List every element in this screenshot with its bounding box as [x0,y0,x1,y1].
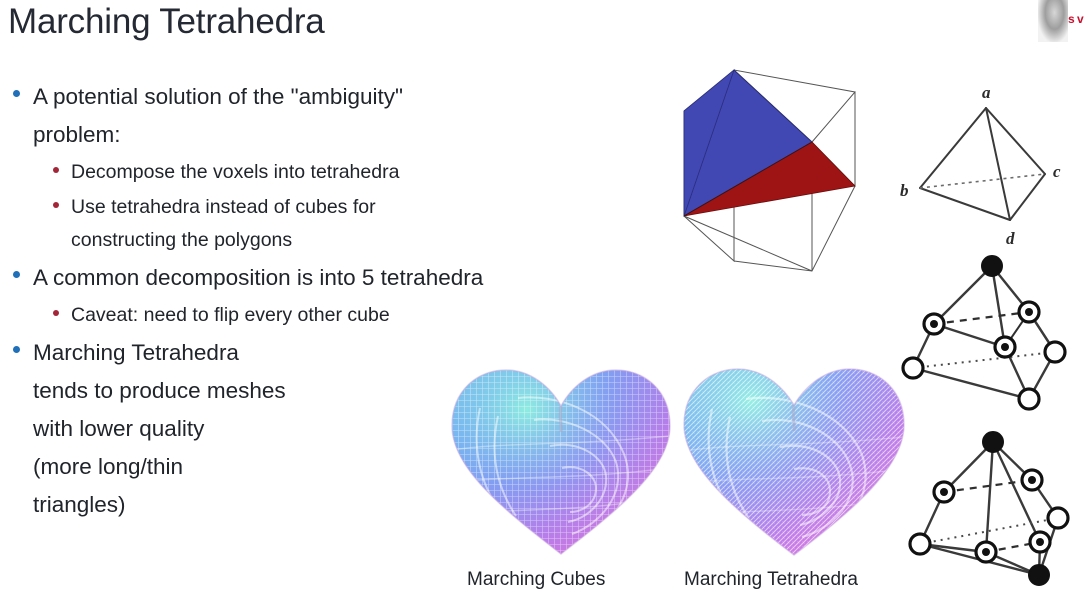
bullet-dot-level2 [53,310,59,316]
intersection-point [1022,470,1042,490]
slide-canvas: Marching Tetrahedra A potential solution… [0,0,1089,600]
vertex-label-c: c [1053,162,1061,181]
list-item-text: Marching Tetrahedra tends to produce mes… [33,334,286,524]
vertex-empty [910,534,930,554]
list-item-text: Use tetrahedra instead of cubes for cons… [71,191,376,257]
list-item: Decompose the voxels into tetrahedra [8,156,568,189]
heart-mesh-marching-tetrahedra-figure [676,355,911,565]
intersection-point [924,314,944,334]
list-item-text: A potential solution of the "ambiguity" … [33,78,403,154]
intersection-point [1019,302,1039,322]
list-item: Caveat: need to flip every other cube [8,299,568,332]
list-item: A potential solution of the "ambiguity" … [8,78,568,154]
heart-mesh-marching-cubes-figure [446,358,676,563]
vertex-empty [1045,342,1065,362]
thumbnail-photo [1038,0,1068,42]
bullet-dot-level2 [53,167,59,173]
vertex-filled [982,256,1002,276]
labeled-tetrahedron-figure: a b c d [898,78,1083,258]
bullet-dot-level1 [13,90,20,97]
intersection-point [1030,532,1050,552]
vertex-label-a: a [982,83,991,102]
caption-marching-cubes: Marching Cubes [467,569,605,591]
list-item-text: A common decomposition is into 5 tetrahe… [33,259,483,297]
list-item-text: Caveat: need to flip every other cube [71,299,390,332]
page-title: Marching Tetrahedra [8,2,325,42]
marching-tetrahedra-case-two-figure [900,420,1085,600]
caption-marching-tetrahedra: Marching Tetrahedra [684,569,858,591]
list-item: A common decomposition is into 5 tetrahe… [8,259,568,297]
marching-tetrahedra-case-one-figure [900,252,1085,422]
bullet-dot-level1 [13,271,20,278]
cube-with-inscribed-tetrahedron-figure [672,56,872,286]
vertex-label-d: d [1006,229,1015,248]
vertex-empty [1048,508,1068,528]
cube-tetrahedron-svg [672,56,872,286]
bullet-dot-level1 [13,346,20,353]
list-item: Use tetrahedra instead of cubes for cons… [8,191,568,257]
intersection-point [976,542,996,562]
heart-mesh-tetrahedra-svg [676,355,911,565]
presenter-thumbnail-watermark: s v [1035,0,1089,48]
intersection-point [995,337,1015,357]
vertex-label-b: b [900,181,909,200]
watermark-text: s v [1068,14,1083,25]
vertex-filled [1029,565,1049,585]
vertex-filled [983,432,1003,452]
labeled-tetrahedron-svg: a b c d [898,78,1083,258]
intersection-point [934,482,954,502]
vertex-empty [1019,389,1039,409]
list-item-text: Decompose the voxels into tetrahedra [71,156,399,189]
case-two-svg [900,420,1085,600]
heart-mesh-cubes-svg [446,358,676,563]
bullet-dot-level2 [53,202,59,208]
case-one-svg [900,252,1085,422]
